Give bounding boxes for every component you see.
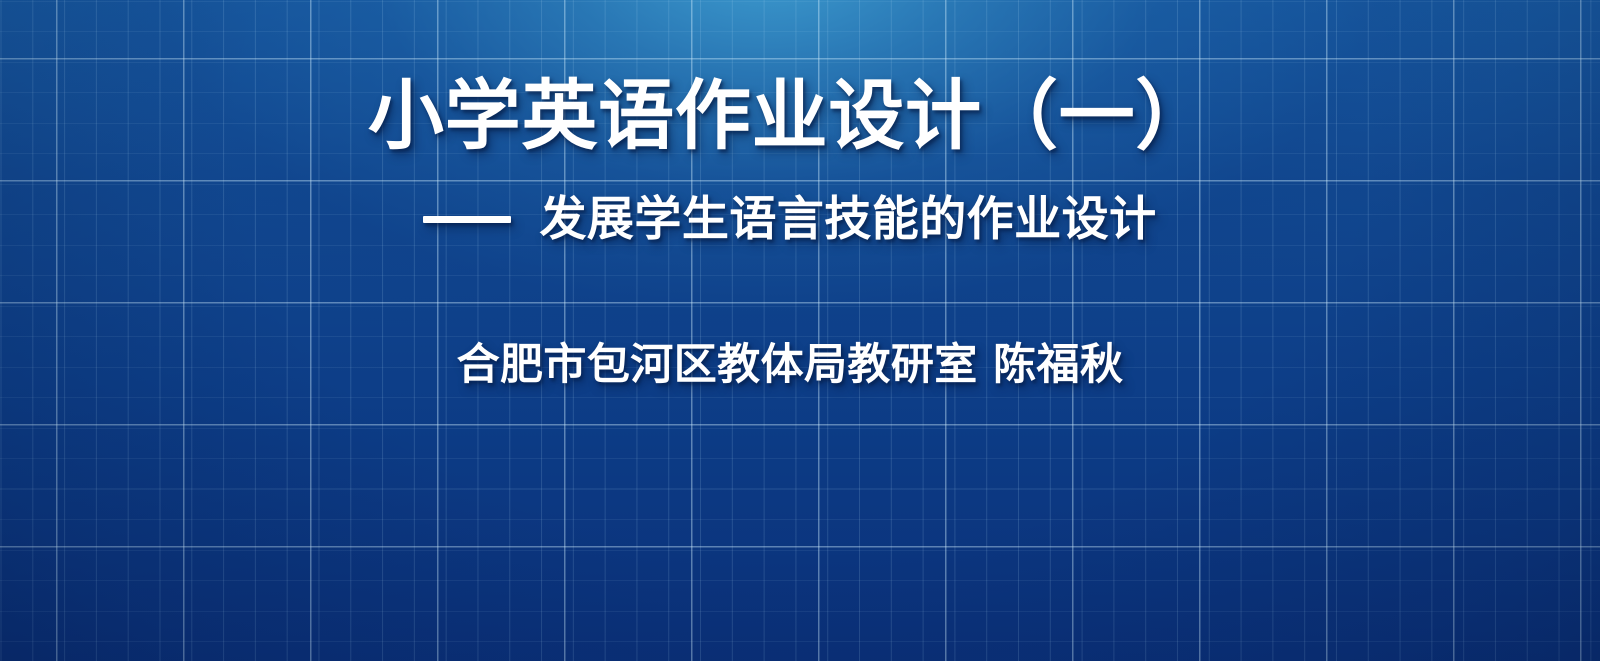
slide-author: 合肥市包河区教体局教研室 陈福秋 xyxy=(0,344,1580,387)
subtitle-row: 发展学生语言技能的作业设计 xyxy=(423,196,1156,243)
slide-subtitle: 发展学生语言技能的作业设计 xyxy=(539,196,1156,243)
slide-content: 小学英语作业设计（一） 发展学生语言技能的作业设计 合肥市包河区教体局教研室 陈… xyxy=(0,0,1600,661)
title-block: 小学英语作业设计（一） xyxy=(0,78,1580,154)
slide-title: 小学英语作业设计（一） xyxy=(0,78,1580,154)
presentation-slide: 小学英语作业设计（一） 发展学生语言技能的作业设计 合肥市包河区教体局教研室 陈… xyxy=(0,0,1600,661)
subtitle-block: 发展学生语言技能的作业设计 xyxy=(0,196,1580,243)
em-dash-rule xyxy=(423,216,511,223)
author-block: 合肥市包河区教体局教研室 陈福秋 xyxy=(0,344,1580,387)
